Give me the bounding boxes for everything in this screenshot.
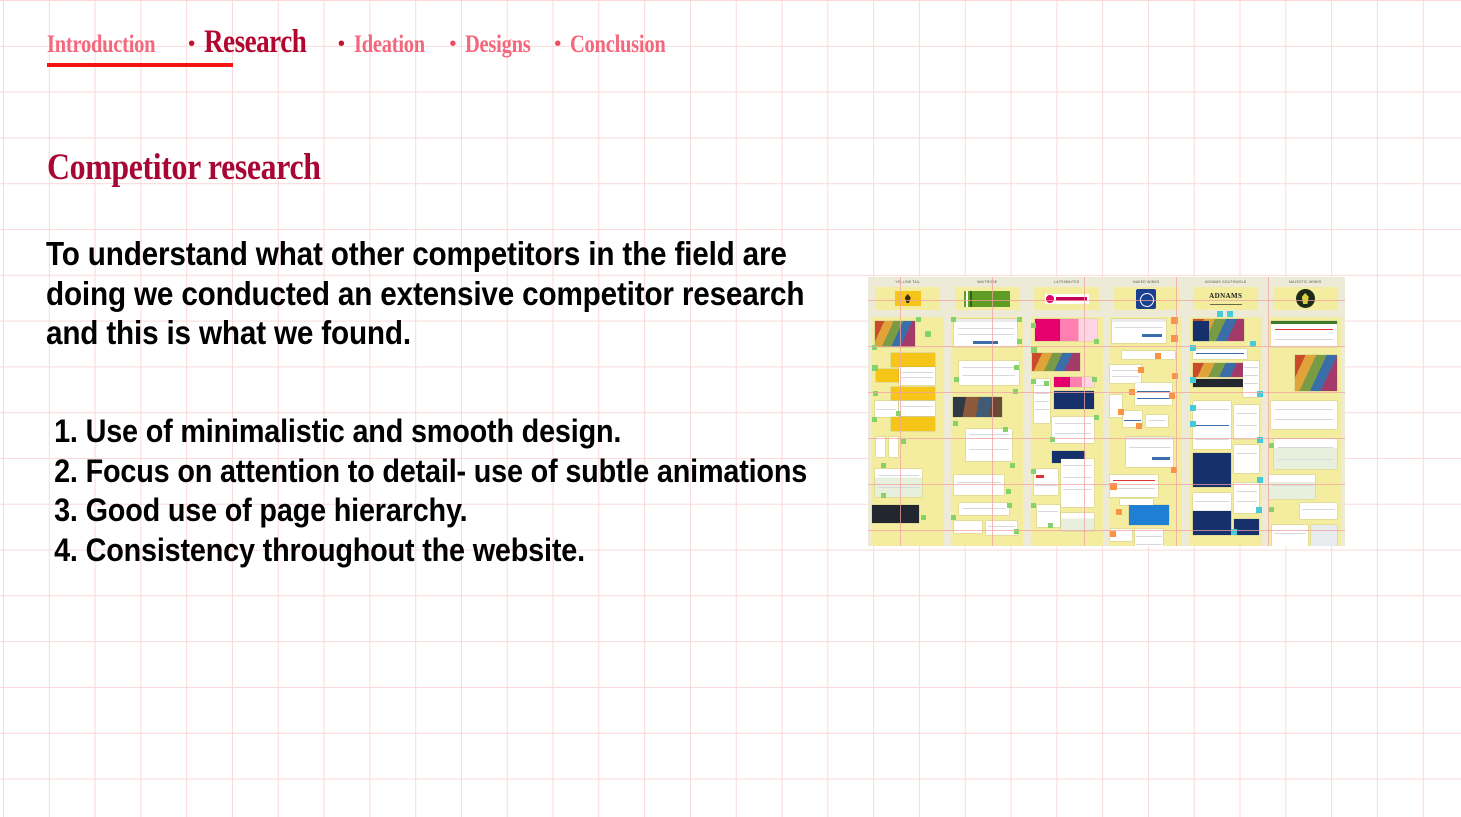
list-item: 2. Focus on attention to detail- use of …	[46, 452, 874, 492]
nav-separator-dot: •	[449, 34, 456, 54]
screenshot-card	[875, 401, 898, 417]
board-guide-line	[1084, 277, 1085, 546]
sticky-note	[1169, 393, 1175, 399]
screenshot-card	[1061, 513, 1094, 531]
board-guide-line	[992, 277, 993, 546]
screenshot-card	[959, 361, 1019, 385]
logo-card	[875, 287, 940, 310]
column-body	[1110, 317, 1182, 546]
screenshot-card	[1234, 405, 1258, 439]
logo-card	[1114, 287, 1179, 310]
screenshot-card	[954, 521, 981, 533]
board-columns: YELLOW TAIL	[868, 277, 1345, 546]
board-guide-line	[868, 392, 1345, 393]
screenshot-card	[1135, 529, 1164, 546]
screenshot-card	[986, 521, 1017, 535]
screenshot-card	[1054, 391, 1094, 409]
board-guide-line	[868, 300, 1345, 301]
sticky-note	[916, 317, 921, 322]
screenshot-card	[1193, 379, 1247, 387]
screenshot-card	[872, 505, 919, 523]
board-column-waitrose: WAITROSE	[948, 277, 1028, 546]
nav-item-introduction[interactable]: Introduction	[47, 32, 155, 57]
screenshot-card	[1135, 383, 1172, 405]
board-guide-line	[1176, 277, 1177, 546]
sticky-note	[1256, 507, 1262, 513]
screenshot-card	[954, 319, 1017, 347]
sticky-note	[1269, 443, 1274, 448]
screenshot-card	[959, 503, 1009, 515]
nav-item-designs[interactable]: Designs	[465, 32, 530, 57]
sticky-note	[901, 439, 906, 444]
sticky-note	[1014, 365, 1019, 370]
sticky-note	[954, 377, 959, 382]
sticky-note	[1118, 409, 1124, 415]
sticky-note	[1031, 379, 1036, 384]
column-body	[872, 317, 944, 546]
screenshot-card	[1110, 475, 1157, 497]
section-nav[interactable]: Introduction • Research • Ideation • Des…	[47, 26, 687, 59]
adnams-logo-icon: ADNAMS	[1202, 291, 1250, 306]
board-column-naked-wines: NAKED WINES	[1107, 277, 1187, 546]
screenshot-card	[1271, 321, 1337, 347]
list-item: 3. Good use of page hierarchy.	[46, 491, 874, 531]
sticky-note	[1190, 421, 1196, 427]
screenshot-card	[1129, 505, 1169, 525]
sticky-note	[1110, 531, 1116, 537]
logo-card: ADNAMS	[1193, 287, 1258, 310]
sticky-note	[1269, 507, 1274, 512]
screenshot-card	[1295, 355, 1336, 391]
slide-canvas: Introduction • Research • Ideation • Des…	[0, 0, 1461, 817]
screenshot-card	[876, 437, 885, 457]
screenshot-card	[953, 397, 1002, 417]
screenshot-card	[1269, 475, 1315, 499]
majestic-wines-logo-icon	[1296, 289, 1315, 308]
sticky-note	[1044, 381, 1049, 386]
sticky-note	[1031, 347, 1037, 353]
screenshot-card	[1035, 319, 1097, 341]
column-body	[1031, 317, 1103, 546]
sticky-note	[1190, 405, 1196, 411]
screenshot-card	[891, 387, 935, 400]
screenshot-card	[1146, 415, 1167, 427]
sticky-note	[1217, 311, 1223, 317]
sticky-note	[1007, 503, 1012, 508]
board-column-laithwaites: LAITHWAITES	[1027, 277, 1107, 546]
intro-paragraph: To understand what other competitors in …	[46, 234, 856, 353]
sticky-note	[1257, 477, 1263, 483]
sticky-note	[1155, 353, 1161, 359]
sticky-note	[872, 417, 877, 422]
naked-wines-logo-icon	[1136, 289, 1156, 309]
list-item: 1. Use of minimalistic and smooth design…	[46, 412, 874, 452]
board-column-majestic-wines: MAJESTIC WINES	[1266, 277, 1346, 546]
screenshot-card	[1193, 321, 1209, 341]
board-guide-line	[868, 346, 1345, 347]
screenshot-card	[1112, 319, 1166, 343]
yellowtail-logo-icon	[895, 291, 921, 306]
nav-separator-dot: •	[338, 34, 345, 54]
nav-separator-dot: •	[188, 34, 195, 54]
screenshot-card	[1234, 519, 1258, 535]
sticky-note	[951, 515, 956, 520]
sticky-note	[872, 365, 878, 371]
screenshot-card	[1120, 499, 1153, 505]
column-body	[1269, 317, 1341, 546]
sticky-note	[921, 515, 926, 520]
nav-item-ideation[interactable]: Ideation	[354, 32, 425, 57]
screenshot-card	[954, 475, 1004, 495]
sticky-note	[881, 463, 886, 468]
column-title: NAKED WINES	[1107, 280, 1187, 284]
screenshot-card	[1061, 459, 1094, 507]
nav-item-conclusion[interactable]: Conclusion	[570, 32, 666, 57]
screenshot-card	[1122, 351, 1175, 359]
column-title: ADNAMS SOUTHWOLD	[1186, 280, 1266, 284]
screenshot-card	[1126, 437, 1173, 467]
screenshot-card	[1193, 363, 1247, 377]
competitor-research-board-image: YELLOW TAIL	[868, 277, 1345, 546]
board-guide-line	[900, 277, 901, 546]
sticky-note	[925, 331, 931, 337]
board-guide-line	[868, 438, 1345, 439]
sticky-note	[1048, 523, 1053, 528]
findings-list: 1. Use of minimalistic and smooth design…	[46, 412, 874, 570]
screenshot-card	[1271, 401, 1337, 429]
column-title: WAITROSE	[948, 280, 1028, 284]
sticky-note	[1031, 503, 1036, 508]
sticky-note	[1003, 427, 1008, 432]
column-title: MAJESTIC WINES	[1266, 280, 1346, 284]
sticky-note	[1006, 489, 1011, 494]
screenshot-card	[1034, 469, 1058, 495]
nav-separator-dot: •	[554, 34, 561, 54]
screenshot-card	[1052, 417, 1093, 443]
board-column-adnams-southwold: ADNAMS SOUTHWOLD ADNAMS	[1186, 277, 1266, 546]
screenshot-card	[1054, 377, 1094, 387]
screenshot-card	[1311, 525, 1337, 546]
sticky-note	[1138, 367, 1144, 373]
screenshot-card	[966, 429, 1012, 461]
column-body	[951, 317, 1023, 546]
board-guide-line	[868, 530, 1345, 531]
screenshot-card	[875, 321, 915, 347]
list-item: 4. Consistency throughout the website.	[46, 531, 874, 571]
column-title: YELLOW TAIL	[868, 280, 948, 284]
sticky-note	[1017, 317, 1022, 322]
screenshot-card	[1110, 365, 1140, 383]
sticky-note	[1094, 415, 1099, 420]
screenshot-card	[899, 401, 935, 416]
logo-card	[1034, 287, 1099, 310]
screenshot-card	[1032, 353, 1079, 371]
laithwaites-logo-icon	[1045, 294, 1089, 304]
screenshot-card	[891, 353, 935, 367]
screenshot-card	[1193, 401, 1232, 449]
column-body	[1190, 317, 1262, 546]
sticky-note	[1190, 377, 1196, 383]
sticky-note	[951, 317, 956, 322]
sticky-note	[1227, 311, 1233, 317]
waitrose-logo-icon	[964, 291, 1010, 307]
screenshot-card	[891, 417, 935, 431]
sticky-note	[1031, 323, 1036, 328]
sticky-note	[1094, 339, 1099, 344]
sticky-note	[1010, 463, 1015, 468]
sticky-note	[1136, 423, 1142, 429]
sticky-note	[881, 493, 886, 498]
board-guide-line	[1268, 277, 1269, 546]
logo-card	[955, 287, 1020, 310]
screenshot-card	[1193, 349, 1247, 359]
screenshot-card	[1274, 439, 1337, 469]
screenshot-card	[1234, 445, 1258, 473]
sticky-note	[1172, 373, 1178, 379]
board-guide-line	[868, 484, 1345, 485]
sticky-note	[1031, 469, 1036, 474]
column-title: LAITHWAITES	[1027, 280, 1107, 284]
sticky-note	[1116, 509, 1122, 515]
screenshot-card	[899, 367, 935, 385]
sticky-note	[1092, 377, 1097, 382]
logo-card	[1273, 287, 1338, 310]
screenshot-card	[1300, 503, 1337, 519]
sticky-note	[1017, 339, 1022, 344]
screenshot-card	[1272, 525, 1308, 546]
nav-item-research[interactable]: Research	[204, 26, 306, 59]
nav-underline	[47, 63, 233, 67]
screenshot-card	[1193, 511, 1232, 535]
board-column-yellow-tail: YELLOW TAIL	[868, 277, 948, 546]
page-title: Competitor research	[47, 149, 321, 188]
screenshot-card	[1193, 453, 1232, 487]
sticky-note	[953, 421, 958, 426]
screenshot-card	[889, 437, 898, 457]
